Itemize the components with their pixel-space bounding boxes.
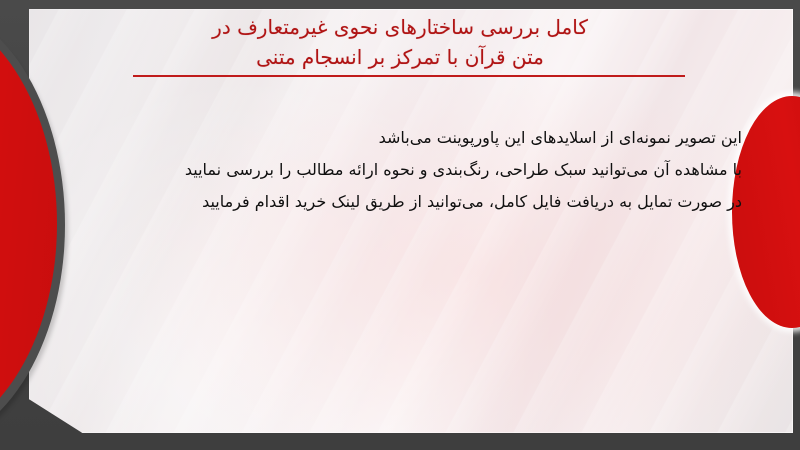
title-line-2: متن قرآن با تمرکز بر انسجام متنی: [80, 42, 720, 72]
panel-streak-overlay: [29, 9, 793, 433]
panel-tint-overlay: [29, 9, 793, 433]
body-line-2: با مشاهده آن می‌توانید سبک طراحی، رنگ‌بن…: [82, 154, 742, 186]
body-line-3: در صورت تمایل به دریافت فایل کامل، می‌تو…: [82, 186, 742, 218]
slide-content-panel: [29, 9, 793, 433]
slide-title: کامل بررسی ساختارهای نحوی غیرمتعارف در م…: [80, 12, 720, 72]
presentation-slide: کامل بررسی ساختارهای نحوی غیرمتعارف در م…: [0, 0, 800, 450]
title-line-1: کامل بررسی ساختارهای نحوی غیرمتعارف در: [80, 12, 720, 42]
slide-body-text: این تصویر نمونه‌ای از اسلایدهای این پاور…: [82, 122, 742, 218]
title-underline-rule: [133, 75, 685, 77]
body-line-1: این تصویر نمونه‌ای از اسلایدهای این پاور…: [82, 122, 742, 154]
